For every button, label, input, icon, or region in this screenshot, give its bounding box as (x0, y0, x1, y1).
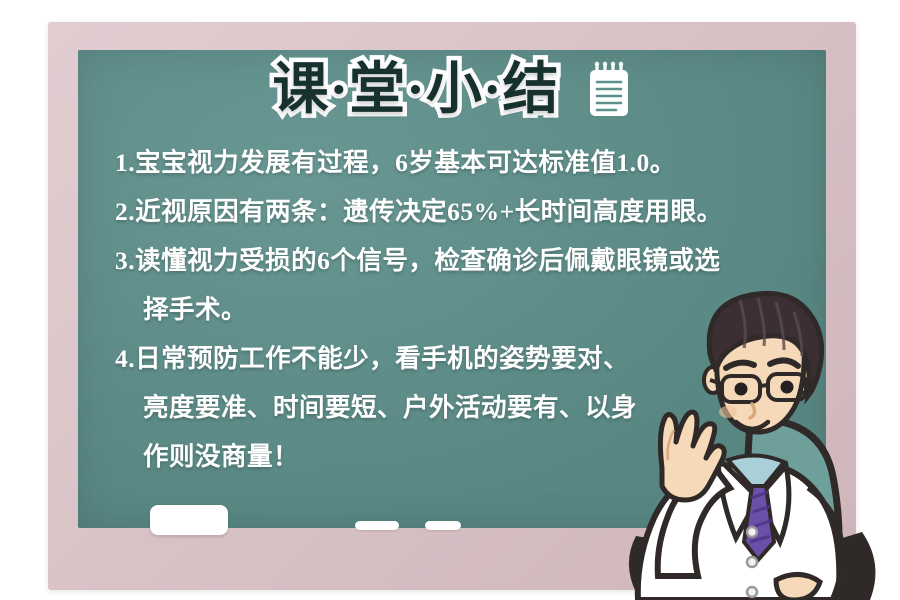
chalk-stick-2 (425, 521, 461, 530)
list-item: 1.宝宝视力发展有过程，6岁基本可达标准值1.0。 (115, 138, 815, 187)
doctor-head (704, 293, 822, 432)
eye-left (735, 383, 748, 396)
chalkboard-eraser (150, 505, 228, 535)
list-item: 2.近视原因有两条：遗传决定65%+长时间高度用眼。 (115, 187, 815, 236)
board-title-row: 课·堂·小·结 (78, 58, 826, 122)
page-title: 课·堂·小·结 (272, 58, 559, 122)
notepad-icon (586, 61, 632, 119)
list-item: 3.读懂视力受损的6个信号，检查确诊后佩戴眼镜或选 (115, 236, 815, 285)
chalk-stick-1 (355, 521, 399, 530)
eye-right (781, 381, 794, 394)
cartoon-doctor (600, 280, 900, 600)
poster-canvas: 课·堂·小·结 (0, 0, 900, 600)
